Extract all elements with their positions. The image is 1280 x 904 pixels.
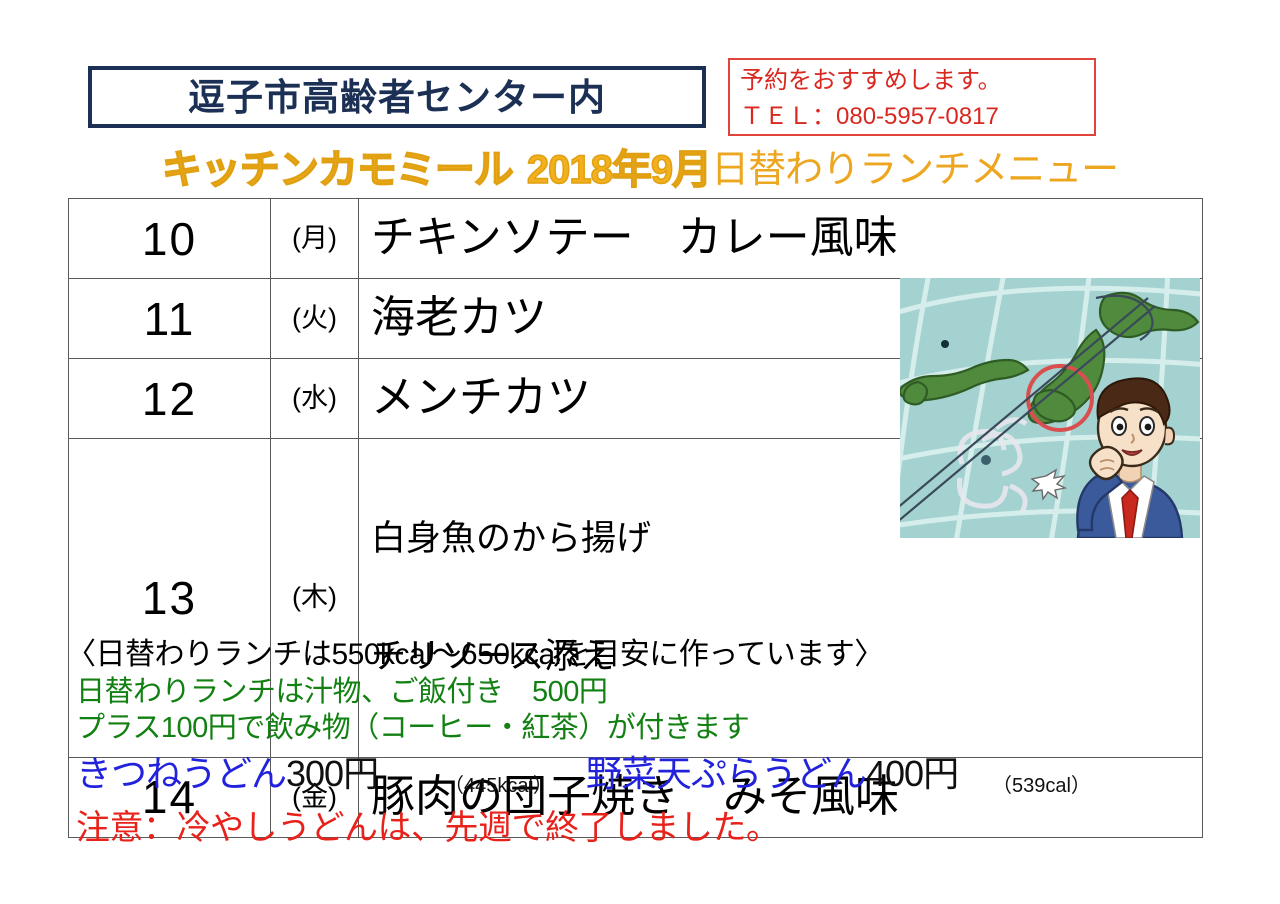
menu-month-text: 2018年9月 [527, 150, 711, 190]
menu-dish-cell: チキンソテー カレー風味 [359, 199, 1203, 279]
header-row: 逗子市高齢者センター内 予約をおすすめします。 ＴＥＬ：080-5957-081… [0, 58, 1280, 146]
drink-addon-note: プラス100円で飲み物（コーヒー・紅茶）が付きます [66, 710, 1246, 746]
weather-forecast-illustration [900, 278, 1200, 538]
menu-weekday-cell: (月) [271, 199, 359, 279]
menu-weekday-cell: (水) [271, 359, 359, 439]
udon-item-2-name: 野菜天ぷらうどん [586, 753, 866, 794]
udon-item-2: 野菜天ぷらうどん400円 [586, 756, 958, 792]
udon-item-2-price: 400円 [866, 753, 958, 794]
udon-item-2-calories: （539cal） [992, 776, 1091, 796]
shop-name-text: キッチンカモミール [162, 150, 513, 190]
menu-poster: 逗子市高齢者センター内 予約をおすすめします。 ＴＥＬ：080-5957-081… [0, 0, 1280, 904]
menu-date-cell: 10 [69, 199, 271, 279]
notes-section: 〈日替わりランチは550kcal～650kcalを目安に作っています〉 日替わり… [66, 636, 1246, 850]
menu-date-cell: 12 [69, 359, 271, 439]
reservation-box: 予約をおすすめします。 ＴＥＬ：080-5957-0817 [728, 58, 1096, 136]
discontinued-item-warning: 注意：冷やしうどんは、先週で終了しました。 [66, 806, 1246, 850]
udon-item-1-name: きつねうどん [76, 753, 286, 794]
udon-price-row: きつねうどん300円 （445kcal） 野菜天ぷらうどん400円 （539ca… [66, 750, 1246, 800]
udon-item-1-price: 300円 [286, 753, 378, 794]
menu-weekday-cell: (火) [271, 279, 359, 359]
banner-title: キッチンカモミール 2018年9月 日替わりランチメニュー [0, 146, 1280, 194]
calorie-guideline-note: 〈日替わりランチは550kcal～650kcalを目安に作っています〉 [66, 636, 1246, 674]
udon-item-1: きつねうどん300円 [76, 756, 378, 792]
reservation-phone-number[interactable]: ＴＥＬ：080-5957-0817 [740, 99, 1086, 135]
venue-name-box: 逗子市高齢者センター内 [88, 66, 706, 128]
table-row: 10 (月) チキンソテー カレー風味 [69, 199, 1203, 279]
lunch-set-price-note: 日替わりランチは汁物、ご飯付き 500円 [66, 674, 1246, 710]
venue-name-text: 逗子市高齢者センター内 [188, 79, 606, 116]
menu-subtitle-text: 日替わりランチメニュー [711, 151, 1118, 189]
udon-item-1-calories: （445kcal） [444, 776, 553, 796]
weather-illustration-svg [900, 278, 1200, 538]
reservation-recommend-text: 予約をおすすめします。 [740, 63, 1086, 99]
menu-date-cell: 11 [69, 279, 271, 359]
